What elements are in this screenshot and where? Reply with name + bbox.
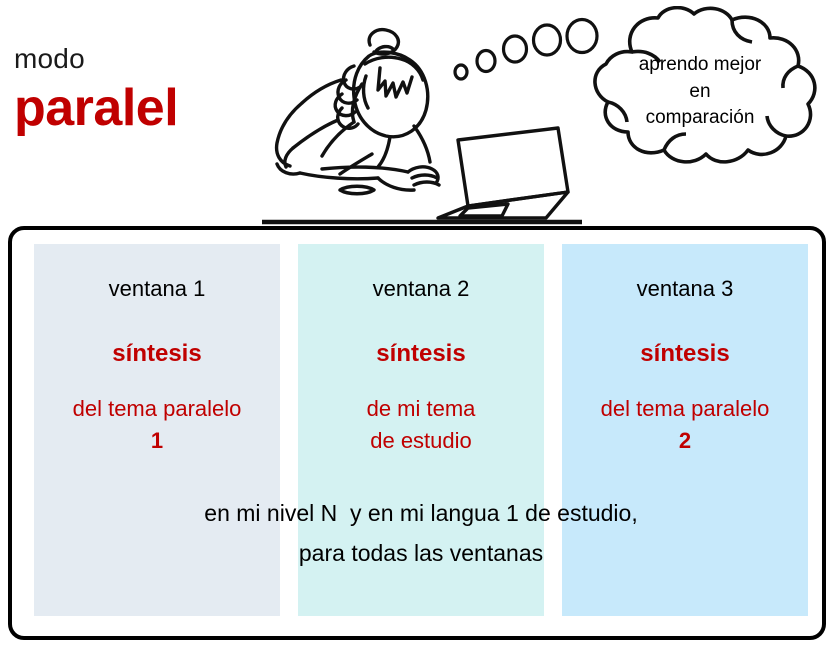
title-block: modo paralel	[14, 44, 264, 136]
window-1-description: del tema paralelo 1	[34, 393, 280, 457]
windows-columns-row: ventana 1 síntesis del tema paralelo 1 v…	[34, 244, 808, 616]
window-1-title: ventana 1	[34, 276, 280, 302]
window-3-desc-line-2: 2	[562, 425, 808, 457]
window-3-description: del tema paralelo 2	[562, 393, 808, 457]
header-area: modo paralel	[0, 0, 834, 226]
window-2-title: ventana 2	[298, 276, 544, 302]
window-1-desc-line-2: 1	[34, 425, 280, 457]
window-2-desc-line-1: de mi tema	[298, 393, 544, 425]
windows-panel-frame: ventana 1 síntesis del tema paralelo 1 v…	[8, 226, 826, 640]
window-2-synthesis-label: síntesis	[298, 340, 544, 369]
thought-cloud: aprendo mejor en comparación	[572, 6, 828, 172]
window-3-synthesis-label: síntesis	[562, 340, 808, 369]
window-column-3[interactable]: ventana 3 síntesis del tema paralelo 2	[562, 244, 808, 616]
window-3-desc-line-1: del tema paralelo	[562, 393, 808, 425]
window-1-synthesis-label: síntesis	[34, 340, 280, 369]
window-column-2[interactable]: ventana 2 síntesis de mi tema de estudio	[298, 244, 544, 616]
window-2-desc-line-2: de estudio	[298, 425, 544, 457]
window-2-description: de mi tema de estudio	[298, 393, 544, 457]
window-column-1[interactable]: ventana 1 síntesis del tema paralelo 1	[34, 244, 280, 616]
window-1-desc-line-1: del tema paralelo	[34, 393, 280, 425]
title-kicker: modo	[14, 44, 264, 73]
page-title: paralel	[14, 81, 264, 136]
window-3-title: ventana 3	[562, 276, 808, 302]
